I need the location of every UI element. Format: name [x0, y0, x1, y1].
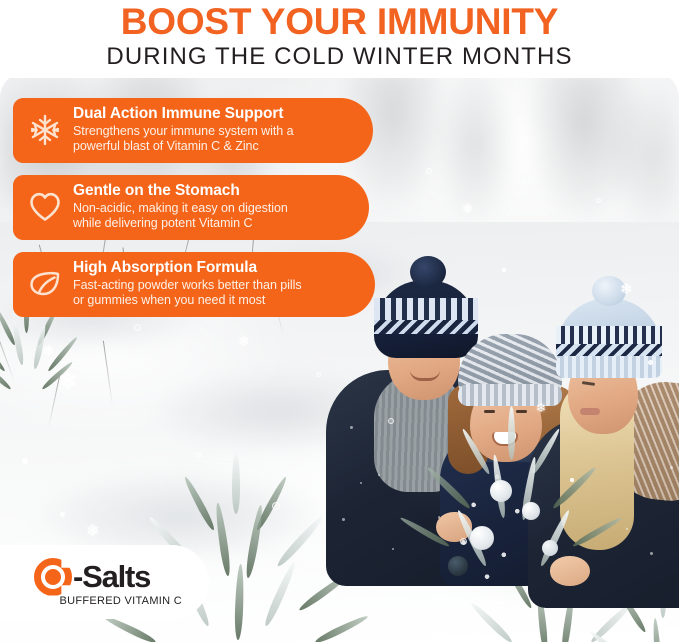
feature-badge-description: Fast-acting powder works better than pil…: [73, 278, 345, 308]
father-hat-pattern-band: [374, 298, 478, 320]
father-hat-chevron-band: [374, 320, 478, 334]
snowflake-overlay-icon: ❄: [536, 402, 546, 414]
page-subtitle: DURING THE COLD WINTER MONTHS: [0, 42, 679, 72]
feature-badge-text: High Absorption Formula Fast-acting powd…: [73, 259, 349, 308]
feature-badge-dual-action-immune-support[interactable]: Dual Action Immune Support Strengthens y…: [13, 98, 373, 163]
tree-ornament: [542, 540, 558, 556]
feature-badge-description-line: Fast-acting powder works better than pil…: [73, 278, 345, 293]
feature-badge-gentle-on-the-stomach[interactable]: Gentle on the Stomach Non-acidic, making…: [13, 175, 369, 240]
tree-ornament: [470, 526, 494, 550]
tree-ornament: [490, 480, 512, 502]
feature-badge-description-line: powerful blast of Vitamin C & Zinc: [73, 139, 343, 154]
feature-badge-high-absorption-formula[interactable]: High Absorption Formula Fast-acting powd…: [13, 252, 375, 317]
mother-hat-brim: [556, 356, 662, 378]
feature-badge-list: Dual Action Immune Support Strengthens y…: [13, 98, 375, 329]
decorated-mini-tree: [426, 406, 626, 586]
brand-tagline: BUFFERED VITAMIN C: [34, 595, 184, 607]
feature-badge-description-line: or gummies when you need it most: [73, 293, 345, 308]
snowflake-overlay-icon: ❄: [620, 282, 633, 297]
family-group: [330, 156, 679, 576]
tree-ornament: [522, 502, 540, 520]
feature-badge-description: Strengthens your immune system with a po…: [73, 124, 343, 154]
snowflake-overlay-icon: ❄: [42, 344, 55, 359]
feature-badge-text: Dual Action Immune Support Strengthens y…: [73, 105, 347, 154]
tree-ornament: [448, 556, 468, 576]
feature-badge-description-line: Non-acidic, making it easy on digestion: [73, 201, 339, 216]
snowflake-overlay-icon: ❄: [238, 334, 250, 348]
feature-badge-title: Gentle on the Stomach: [73, 182, 339, 200]
snowflake-icon: [17, 107, 73, 153]
brand-logo: -Salts BUFFERED VITAMIN C: [34, 558, 184, 607]
feature-badge-title: Dual Action Immune Support: [73, 105, 343, 123]
brand-wordmark: -Salts: [34, 558, 184, 596]
feature-badge-title: High Absorption Formula: [73, 259, 345, 277]
snowflake-overlay-icon: ❄: [462, 202, 473, 215]
c-circle-icon: [34, 558, 72, 596]
brand-name: -Salts: [73, 560, 150, 594]
mother-hat-pattern-band: [556, 326, 662, 344]
leaf-icon: [17, 261, 73, 307]
heart-icon: [17, 184, 73, 230]
feature-badge-description-line: while delivering potent Vitamin C: [73, 216, 339, 231]
header: BOOST YOUR IMMUNITY DURING THE COLD WINT…: [0, 0, 679, 78]
brand-logo-panel[interactable]: -Salts BUFFERED VITAMIN C: [0, 545, 209, 619]
snowflake-overlay-icon: ❄: [58, 370, 78, 394]
page-title: BOOST YOUR IMMUNITY: [0, 0, 679, 42]
mother-hat-chevron-band: [556, 344, 662, 356]
feature-badge-text: Gentle on the Stomach Non-acidic, making…: [73, 182, 343, 231]
feature-badge-description-line: Strengthens your immune system with a: [73, 124, 343, 139]
feature-badge-description: Non-acidic, making it easy on digestion …: [73, 201, 339, 231]
snowflake-overlay-icon: ❄: [86, 524, 99, 540]
father-hat-pompom: [410, 256, 446, 288]
